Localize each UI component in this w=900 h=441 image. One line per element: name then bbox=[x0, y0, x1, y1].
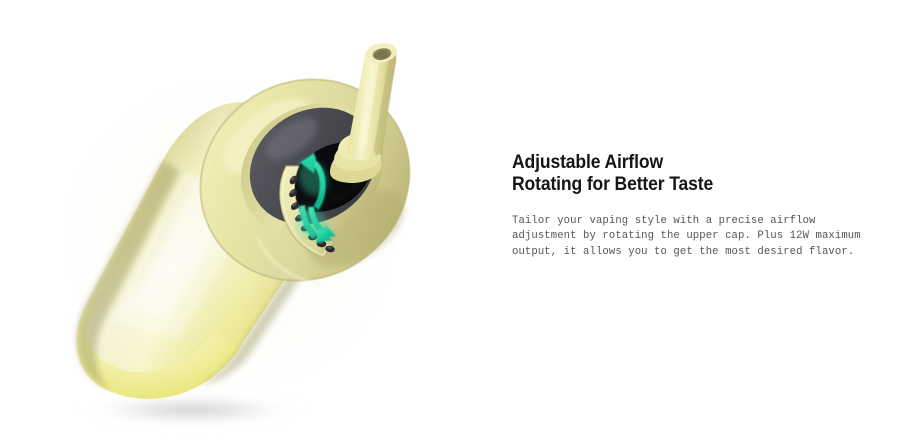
headline-line-1: Adjustable Airflow bbox=[512, 152, 836, 174]
feature-banner: Adjustable Airflow Rotating for Better T… bbox=[0, 0, 900, 441]
description-line-1: Tailor your vaping style with a precise … bbox=[512, 214, 857, 229]
description-line-2: adjustment by rotating the upper cap. Pl… bbox=[512, 229, 857, 244]
page-title: Adjustable Airflow Rotating for Better T… bbox=[512, 152, 836, 195]
ground-shadow bbox=[74, 392, 310, 428]
product-image bbox=[0, 0, 500, 441]
product-illustration bbox=[0, 0, 500, 441]
feature-text-panel: Adjustable Airflow Rotating for Better T… bbox=[512, 152, 872, 260]
headline-line-2: Rotating for Better Taste bbox=[512, 174, 836, 196]
description-line-3: output, it allows you to get the most de… bbox=[512, 245, 857, 260]
feature-description: Tailor your vaping style with a precise … bbox=[512, 195, 857, 260]
